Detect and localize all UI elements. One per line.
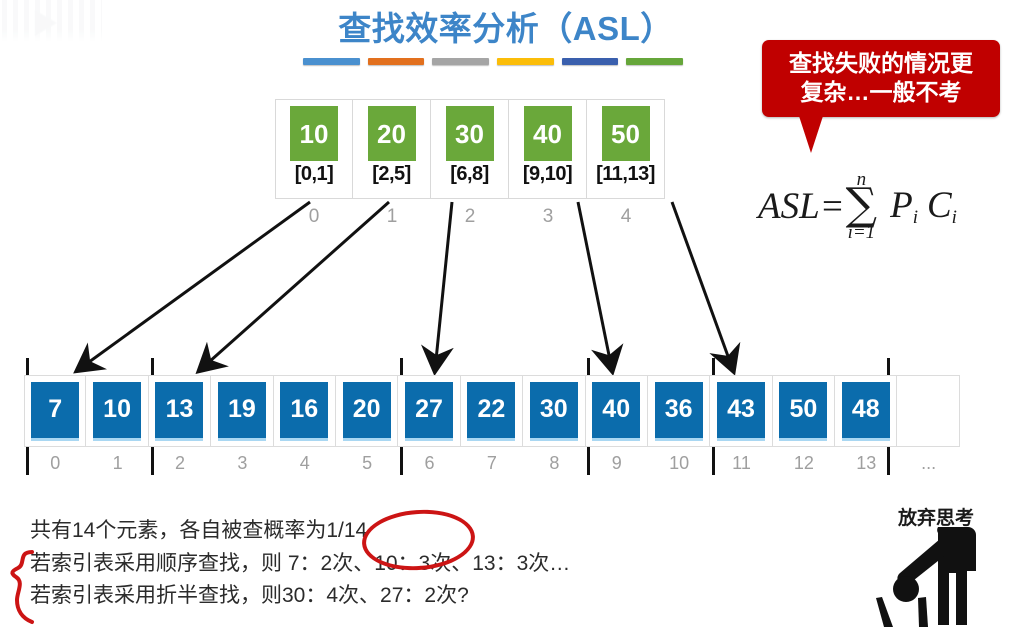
data-position-label: 8 bbox=[523, 453, 585, 474]
arrow-block-4 bbox=[672, 202, 733, 370]
data-position-label: 9 bbox=[586, 453, 648, 474]
index-value: 30 bbox=[446, 106, 494, 161]
data-table: 7 10 13 19 16 20 27 22 30 40 36 43 50 48 bbox=[24, 375, 960, 447]
data-cell: 16 bbox=[274, 375, 336, 447]
rule-segment-3 bbox=[432, 58, 489, 65]
data-value: 10 bbox=[93, 382, 141, 441]
index-cell: 50 [11,13] bbox=[587, 99, 665, 199]
data-cell: 36 bbox=[648, 375, 710, 447]
formula-summation: n ∑ i=1 bbox=[846, 170, 877, 241]
formula-term-c: Ci bbox=[927, 184, 957, 229]
index-cell: 10 [0,1] bbox=[275, 99, 353, 199]
formula-lower-limit: i=1 bbox=[848, 223, 876, 242]
data-value: 19 bbox=[218, 382, 266, 441]
data-position-label: 10 bbox=[648, 453, 710, 474]
formula-p-base: P bbox=[890, 185, 913, 226]
data-position-label: 6 bbox=[398, 453, 460, 474]
index-range: [2,5] bbox=[372, 164, 411, 184]
formula-lhs: ASL= bbox=[758, 185, 845, 228]
title-color-rule bbox=[303, 58, 683, 68]
data-position-label: 11 bbox=[710, 453, 772, 474]
index-position-label: 4 bbox=[587, 206, 665, 228]
sigma-icon: ∑ bbox=[846, 187, 877, 223]
data-value: 22 bbox=[467, 382, 515, 441]
slide-canvas: 查找效率分析（ASL） 10 [0,1] 20 [2,5] 30 [6,8] 4… bbox=[0, 0, 1012, 627]
data-value: 27 bbox=[405, 382, 453, 441]
data-position-label: 13 bbox=[835, 453, 897, 474]
index-position-label: 1 bbox=[353, 206, 431, 228]
index-cell: 20 [2,5] bbox=[353, 99, 431, 199]
index-position-label: 3 bbox=[509, 206, 587, 228]
data-cell: 10 bbox=[86, 375, 148, 447]
data-ellipsis-label: ... bbox=[897, 453, 959, 474]
formula-c-sub: i bbox=[952, 207, 957, 228]
index-range: [11,13] bbox=[596, 164, 655, 184]
rule-segment-2 bbox=[368, 58, 425, 65]
data-position-label: 1 bbox=[86, 453, 148, 474]
index-position-label: 0 bbox=[275, 206, 353, 228]
data-value: 7 bbox=[31, 382, 79, 441]
formula-term-p: Pi bbox=[890, 184, 918, 229]
index-position-labels: 0 1 2 3 4 bbox=[275, 206, 665, 228]
data-cell: 30 bbox=[523, 375, 585, 447]
data-value: 48 bbox=[842, 382, 890, 441]
index-cell: 30 [6,8] bbox=[431, 99, 509, 199]
index-range: [9,10] bbox=[523, 164, 572, 184]
index-table: 10 [0,1] 20 [2,5] 30 [6,8] 40 [9,10] 50 … bbox=[275, 99, 665, 199]
rule-segment-5 bbox=[562, 58, 619, 65]
data-value: 40 bbox=[592, 382, 640, 441]
rule-segment-1 bbox=[303, 58, 360, 65]
formula-p-sub: i bbox=[913, 207, 918, 228]
giveup-figure: 放弃思考 bbox=[866, 503, 1006, 627]
data-position-label: 7 bbox=[461, 453, 523, 474]
callout-tail bbox=[798, 113, 824, 153]
data-value: 30 bbox=[530, 382, 578, 441]
index-value: 10 bbox=[290, 106, 338, 161]
data-position-labels: 0 1 2 3 4 5 6 7 8 9 10 11 12 13 ... bbox=[24, 453, 960, 474]
data-position-label: 12 bbox=[773, 453, 835, 474]
giveup-pictogram-icon bbox=[866, 525, 1006, 627]
data-value: 20 bbox=[343, 382, 391, 441]
index-value: 50 bbox=[602, 106, 650, 161]
asl-formula: ASL= n ∑ i=1 Pi Ci bbox=[758, 160, 1008, 252]
data-cell: 22 bbox=[461, 375, 523, 447]
data-cell-empty bbox=[897, 375, 959, 447]
data-value: 36 bbox=[655, 382, 703, 441]
callout-box: 查找失败的情况更 复杂…一般不考 bbox=[762, 40, 1000, 117]
data-cell: 13 bbox=[149, 375, 211, 447]
data-cell: 40 bbox=[586, 375, 648, 447]
data-value: 13 bbox=[155, 382, 203, 441]
rule-segment-4 bbox=[497, 58, 554, 65]
data-cell: 20 bbox=[336, 375, 398, 447]
data-cell: 7 bbox=[24, 375, 86, 447]
data-cell: 19 bbox=[211, 375, 273, 447]
index-cell: 40 [9,10] bbox=[509, 99, 587, 199]
notes-line-3: 若索引表采用折半查找，则30：4次、27：2次? bbox=[30, 580, 730, 613]
callout-line-1: 查找失败的情况更 bbox=[768, 49, 994, 78]
data-position-label: 4 bbox=[274, 453, 336, 474]
data-cell: 27 bbox=[398, 375, 460, 447]
index-position-label: 2 bbox=[431, 206, 509, 228]
data-position-label: 0 bbox=[24, 453, 86, 474]
notes-line-2: 若索引表采用顺序查找，则 7：2次、10：3次、13：3次… bbox=[30, 548, 730, 581]
data-value: 43 bbox=[717, 382, 765, 441]
data-position-label: 2 bbox=[149, 453, 211, 474]
data-position-label: 5 bbox=[336, 453, 398, 474]
formula-c-base: C bbox=[927, 185, 952, 226]
data-position-label: 3 bbox=[211, 453, 273, 474]
notes-line-1: 共有14个元素，各自被查概率为1/14 bbox=[30, 515, 730, 548]
data-value: 50 bbox=[779, 382, 827, 441]
callout-line-2: 复杂…一般不考 bbox=[768, 78, 994, 107]
index-range: [6,8] bbox=[450, 164, 489, 184]
notes-block: 共有14个元素，各自被查概率为1/14 若索引表采用顺序查找，则 7：2次、10… bbox=[30, 515, 730, 613]
data-value: 16 bbox=[280, 382, 328, 441]
rule-segment-6 bbox=[626, 58, 683, 65]
data-cell: 50 bbox=[773, 375, 835, 447]
data-cell: 48 bbox=[835, 375, 897, 447]
index-range: [0,1] bbox=[295, 164, 334, 184]
index-value: 20 bbox=[368, 106, 416, 161]
data-cell: 43 bbox=[710, 375, 772, 447]
index-value: 40 bbox=[524, 106, 572, 161]
